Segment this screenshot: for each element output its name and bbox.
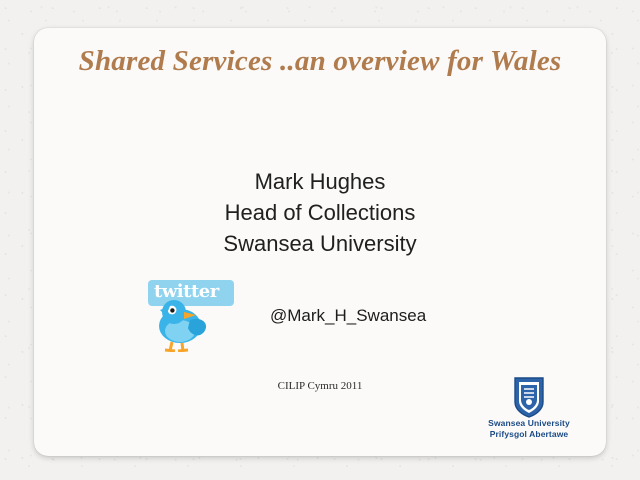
twitter-bird-icon — [150, 298, 216, 352]
twitter-handle: @Mark_H_Swansea — [270, 306, 426, 326]
logo-name-cy: Prifysgol Abertawe — [470, 429, 588, 440]
presenter-name: Mark Hughes — [34, 166, 606, 197]
twitter-logo: twitter — [142, 280, 234, 352]
presenter-block: Mark Hughes Head of Collections Swansea … — [34, 166, 606, 260]
logo-name-en: Swansea University — [470, 418, 588, 429]
presenter-organisation: Swansea University — [34, 228, 606, 259]
presentation-slide: Shared Services ..an overview for Wales … — [34, 28, 606, 456]
twitter-row: twitter @Mark_H_Swansea — [142, 280, 482, 354]
swansea-university-crest-icon — [512, 376, 546, 418]
slide-title: Shared Services ..an overview for Wales — [68, 44, 572, 79]
logo-text: Swansea University Prifysgol Abertawe — [470, 418, 588, 441]
swansea-university-logo: Swansea University Prifysgol Abertawe — [470, 376, 588, 442]
presenter-role: Head of Collections — [34, 197, 606, 228]
